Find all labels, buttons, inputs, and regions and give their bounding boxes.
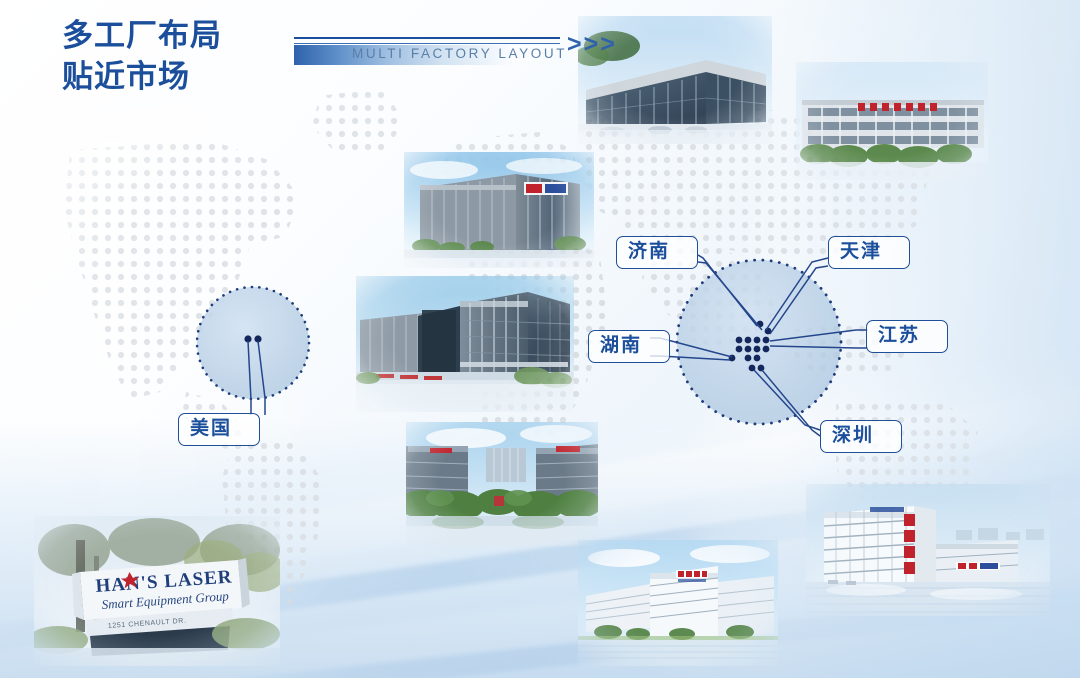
callout-usa[interactable]: 美国 (178, 413, 260, 446)
photo-campus-red-signage (796, 62, 988, 180)
subtitle-text: MULTI FACTORY LAYOUT (352, 46, 567, 61)
page-title-line2: 贴近市场 (62, 57, 222, 98)
callout-tianjin-label: 天津 (840, 241, 882, 262)
photo-hans-laser-sign: HAN'S LASER Smart Equipment Group 1251 C… (34, 516, 280, 666)
callout-jiangsu[interactable]: 江苏 (866, 320, 948, 353)
photo-campus-green-plaza (406, 422, 598, 546)
callout-jiangsu-label: 江苏 (878, 325, 920, 346)
callout-shenzhen-label: 深圳 (832, 425, 874, 446)
usa-region (197, 287, 309, 415)
callout-jinan[interactable]: 济南 (616, 236, 698, 269)
page-title: 多工厂布局 贴近市场 (62, 16, 222, 98)
photo-office-grey-tower (404, 152, 594, 268)
photo-tower-red-characters (806, 484, 1050, 616)
callout-jinan-label: 济南 (628, 241, 670, 262)
subtitle-rule (294, 37, 560, 44)
page-title-line1: 多工厂布局 (62, 16, 222, 57)
slide-header: 多工厂布局 贴近市场 MULTI FACTORY LAYOUT >>> (62, 16, 222, 98)
photo-white-factory-water (578, 540, 778, 666)
subtitle-band: MULTI FACTORY LAYOUT (294, 37, 560, 69)
callout-hunan-label: 湖南 (600, 335, 642, 356)
photo-office-glass-complex (356, 276, 574, 412)
callout-usa-label: 美国 (190, 418, 232, 439)
slide-root: HAN'S LASER Smart Equipment Group 1251 C… (0, 0, 1080, 678)
chevron-right-icon: >>> (567, 30, 617, 59)
callout-shenzhen[interactable]: 深圳 (820, 420, 902, 453)
callout-tianjin[interactable]: 天津 (828, 236, 910, 269)
callout-hunan[interactable]: 湖南 (588, 330, 670, 363)
